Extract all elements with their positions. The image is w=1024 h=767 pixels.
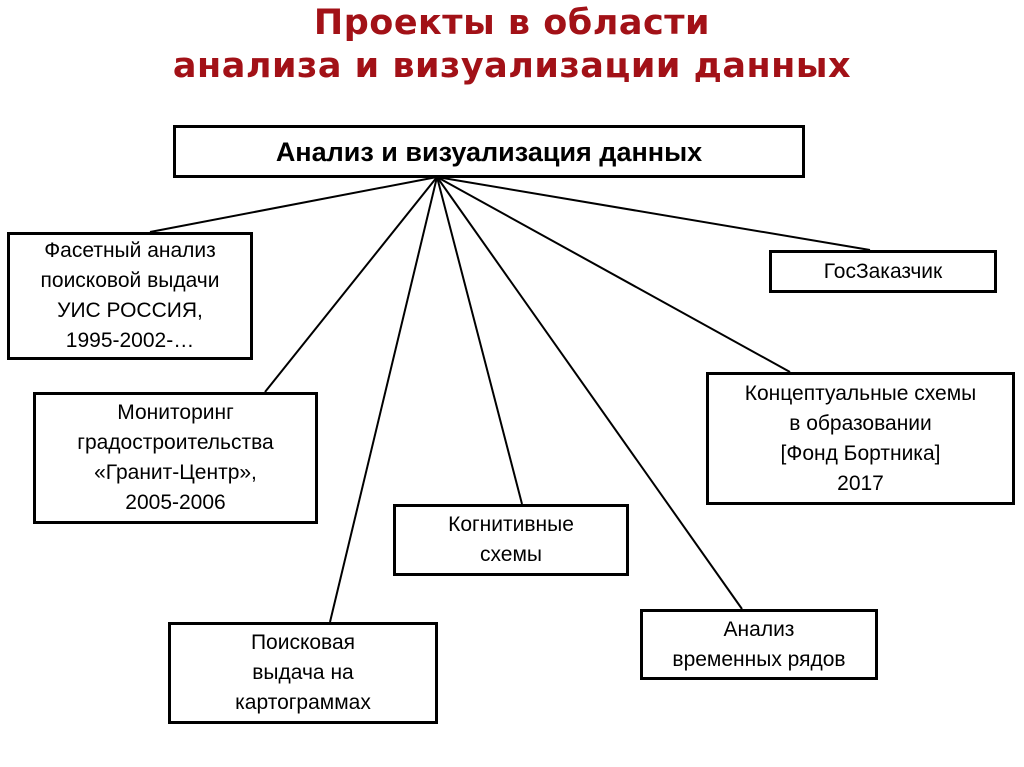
node-monitoring[interactable]: Мониторинг градостроительства «Гранит-Це… xyxy=(33,392,318,524)
node-conceptual-schemes[interactable]: Концептуальные схемы в образовании [Фонд… xyxy=(706,372,1015,505)
node-time-series-label: Анализ временных рядов xyxy=(666,615,851,675)
node-cognitive-schemes-label: Когнитивные схемы xyxy=(442,510,580,570)
node-state-customer-label: ГосЗаказчик xyxy=(818,257,948,287)
node-cognitive-schemes[interactable]: Когнитивные схемы xyxy=(393,504,629,576)
node-facet-analysis[interactable]: Фасетный анализ поисковой выдачи УИС РОС… xyxy=(7,232,253,360)
node-monitoring-label: Мониторинг градостроительства «Гранит-Це… xyxy=(71,398,279,518)
edge-root-to-cognitive-schemes xyxy=(437,177,522,504)
edge-root-to-conceptual-schemes xyxy=(437,177,790,372)
node-time-series[interactable]: Анализ временных рядов xyxy=(640,609,878,680)
node-conceptual-schemes-label: Концептуальные схемы в образовании [Фонд… xyxy=(739,379,983,499)
node-root[interactable]: Анализ и визуализация данных xyxy=(173,125,805,178)
diagram-canvas: Проекты в области анализа и визуализации… xyxy=(0,0,1024,767)
node-search-cartograms-label: Поисковая выдача на картограммах xyxy=(229,628,377,718)
edge-root-to-state-customer xyxy=(437,177,870,250)
edge-root-to-monitoring xyxy=(265,177,437,392)
edge-root-to-facet-analysis xyxy=(150,177,437,232)
node-facet-analysis-label: Фасетный анализ поисковой выдачи УИС РОС… xyxy=(35,236,226,356)
node-search-cartograms[interactable]: Поисковая выдача на картограммах xyxy=(168,622,438,724)
node-state-customer[interactable]: ГосЗаказчик xyxy=(769,250,997,293)
node-root-label: Анализ и визуализация данных xyxy=(270,136,708,168)
page-title: Проекты в области анализа и визуализации… xyxy=(0,2,1024,88)
